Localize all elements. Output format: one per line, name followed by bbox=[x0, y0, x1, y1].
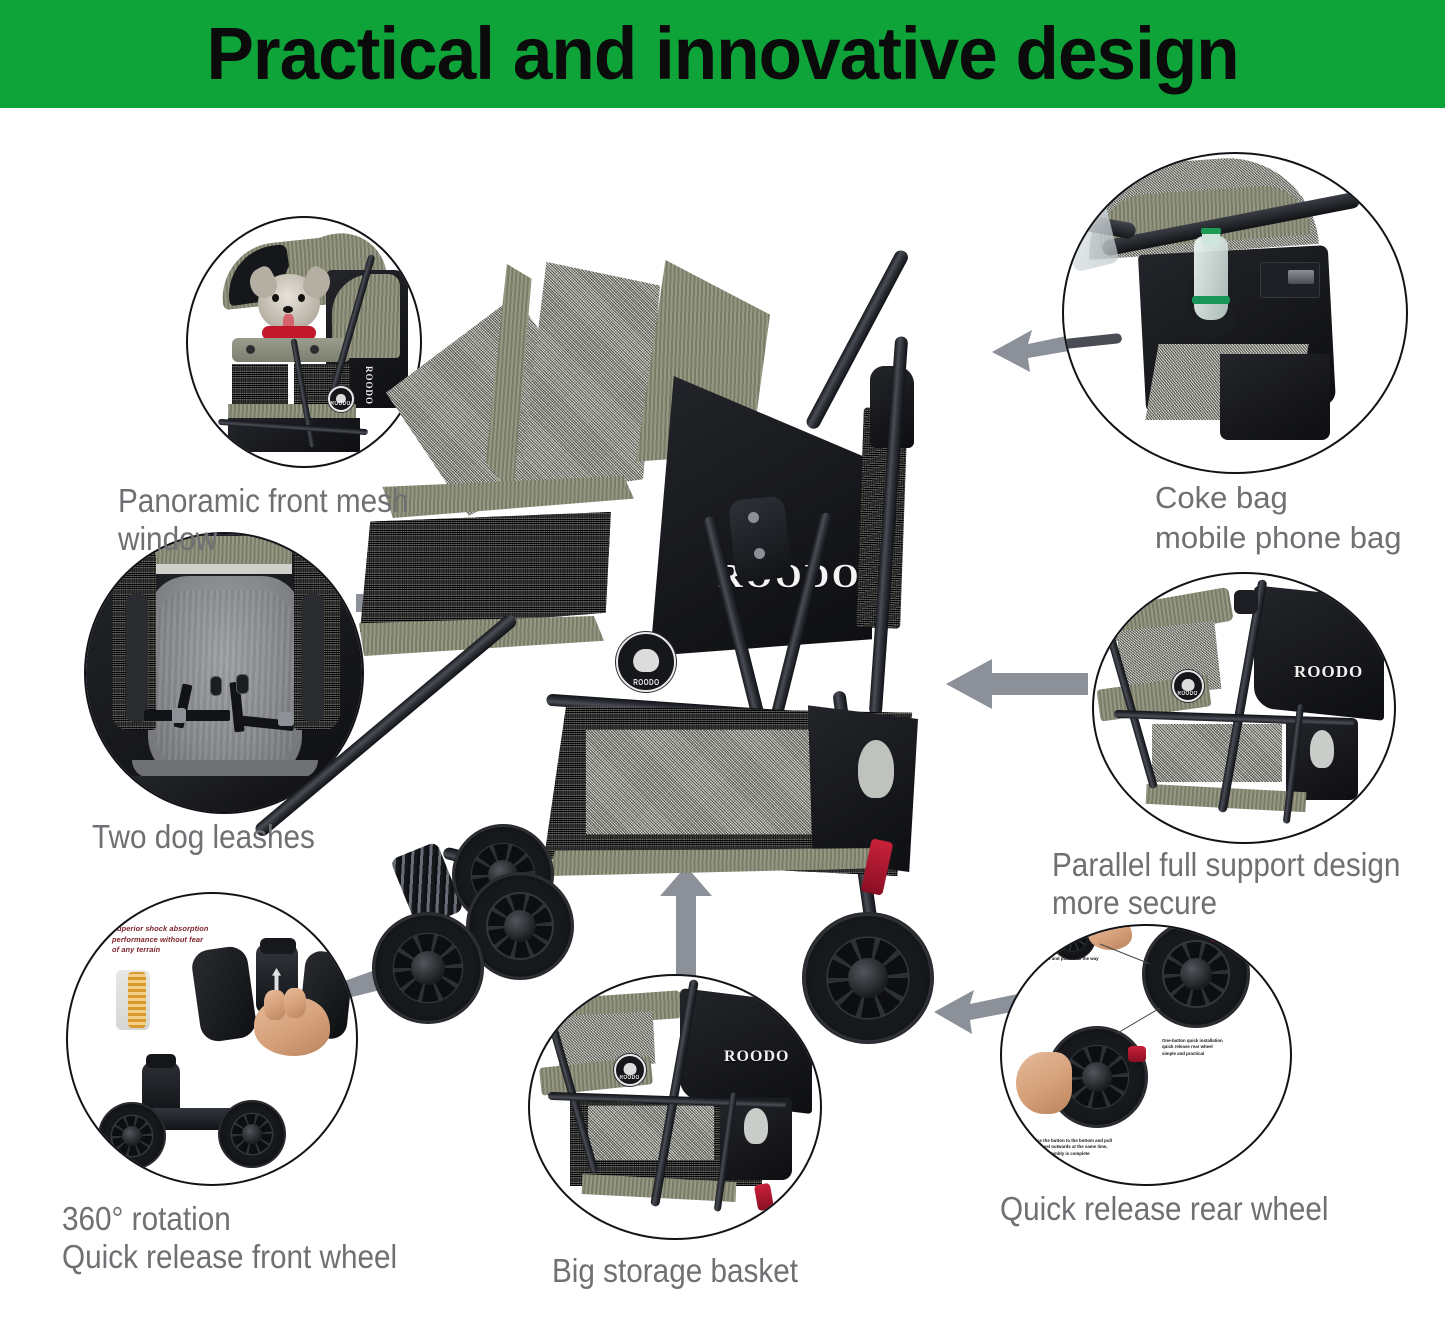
front-wheel-left bbox=[98, 1102, 166, 1170]
inset-photo-coke-bag bbox=[1064, 154, 1406, 472]
caption-quick-release-rear-wheel: Quick release rear wheel bbox=[1000, 1190, 1360, 1228]
roodo-logo-badge-main: ROODO bbox=[616, 632, 676, 692]
frame-x-joint bbox=[728, 495, 792, 582]
caption-panoramic-front-mesh-window: Panoramic front mesh window bbox=[118, 482, 505, 557]
inset-coke-bag[interactable] bbox=[1062, 152, 1408, 474]
header-banner: Practical and innovative design bbox=[0, 0, 1445, 108]
roodo-logo-badge-basket: ROODO bbox=[614, 1054, 646, 1086]
infographic-page: Practical and innovative design bbox=[0, 0, 1445, 1344]
inset-front-wheel-shock-absorption[interactable]: Superior shock absorption performance wi… bbox=[66, 892, 358, 1186]
callout-line-1 bbox=[1098, 940, 1154, 972]
inset-quick-release-rear-wheel[interactable]: Align the axle and push it all the way O… bbox=[1000, 924, 1292, 1186]
rear-wheel-step3-note: Press the button to the bottom and pull … bbox=[1030, 1138, 1180, 1157]
storage-basket-mesh-panel bbox=[586, 730, 816, 834]
inset-photo-front-wheel: Superior shock absorption performance wi… bbox=[68, 894, 356, 1184]
roodo-logo-badge-parallel: ROODO bbox=[1172, 670, 1204, 702]
front-wheel-front bbox=[372, 912, 484, 1024]
roodo-wordmark-basket: ROODO bbox=[724, 1048, 789, 1066]
rear-wheel-main bbox=[802, 912, 934, 1044]
main-product-photo: ROODO ROODO bbox=[350, 240, 1030, 1020]
front-wheel-right bbox=[218, 1100, 286, 1168]
canopy-mid-mesh-panel bbox=[518, 262, 660, 498]
rear-wheel-step2-note: One-button quick installation quick rele… bbox=[1162, 1038, 1282, 1057]
caption-two-dog-leashes: Two dog leashes bbox=[92, 818, 389, 856]
inset-photo-parallel-support: ROODO ROODO bbox=[1094, 574, 1394, 842]
inset-parallel-full-support[interactable]: ROODO ROODO bbox=[1092, 572, 1396, 844]
page-title: Practical and innovative design bbox=[206, 17, 1238, 91]
inset-photo-rear-wheel-steps: Align the axle and push it all the way O… bbox=[1002, 926, 1290, 1184]
caption-360-rotation-quick-release-front-wheel: 360° rotation Quick release front wheel bbox=[62, 1200, 440, 1275]
caption-parallel-full-support-design: Parallel full support design more secure bbox=[1052, 846, 1430, 921]
roodo-wordmark-parallel: ROODO bbox=[1294, 662, 1363, 682]
caption-coke-bag-mobile-phone-bag: Coke bag mobile phone bag bbox=[1155, 478, 1445, 559]
banner-divider bbox=[0, 108, 1445, 113]
callout-line-2 bbox=[1112, 1004, 1164, 1038]
caption-big-storage-basket: Big storage basket bbox=[552, 1252, 840, 1290]
rear-wheel-release-lever bbox=[754, 1183, 774, 1211]
